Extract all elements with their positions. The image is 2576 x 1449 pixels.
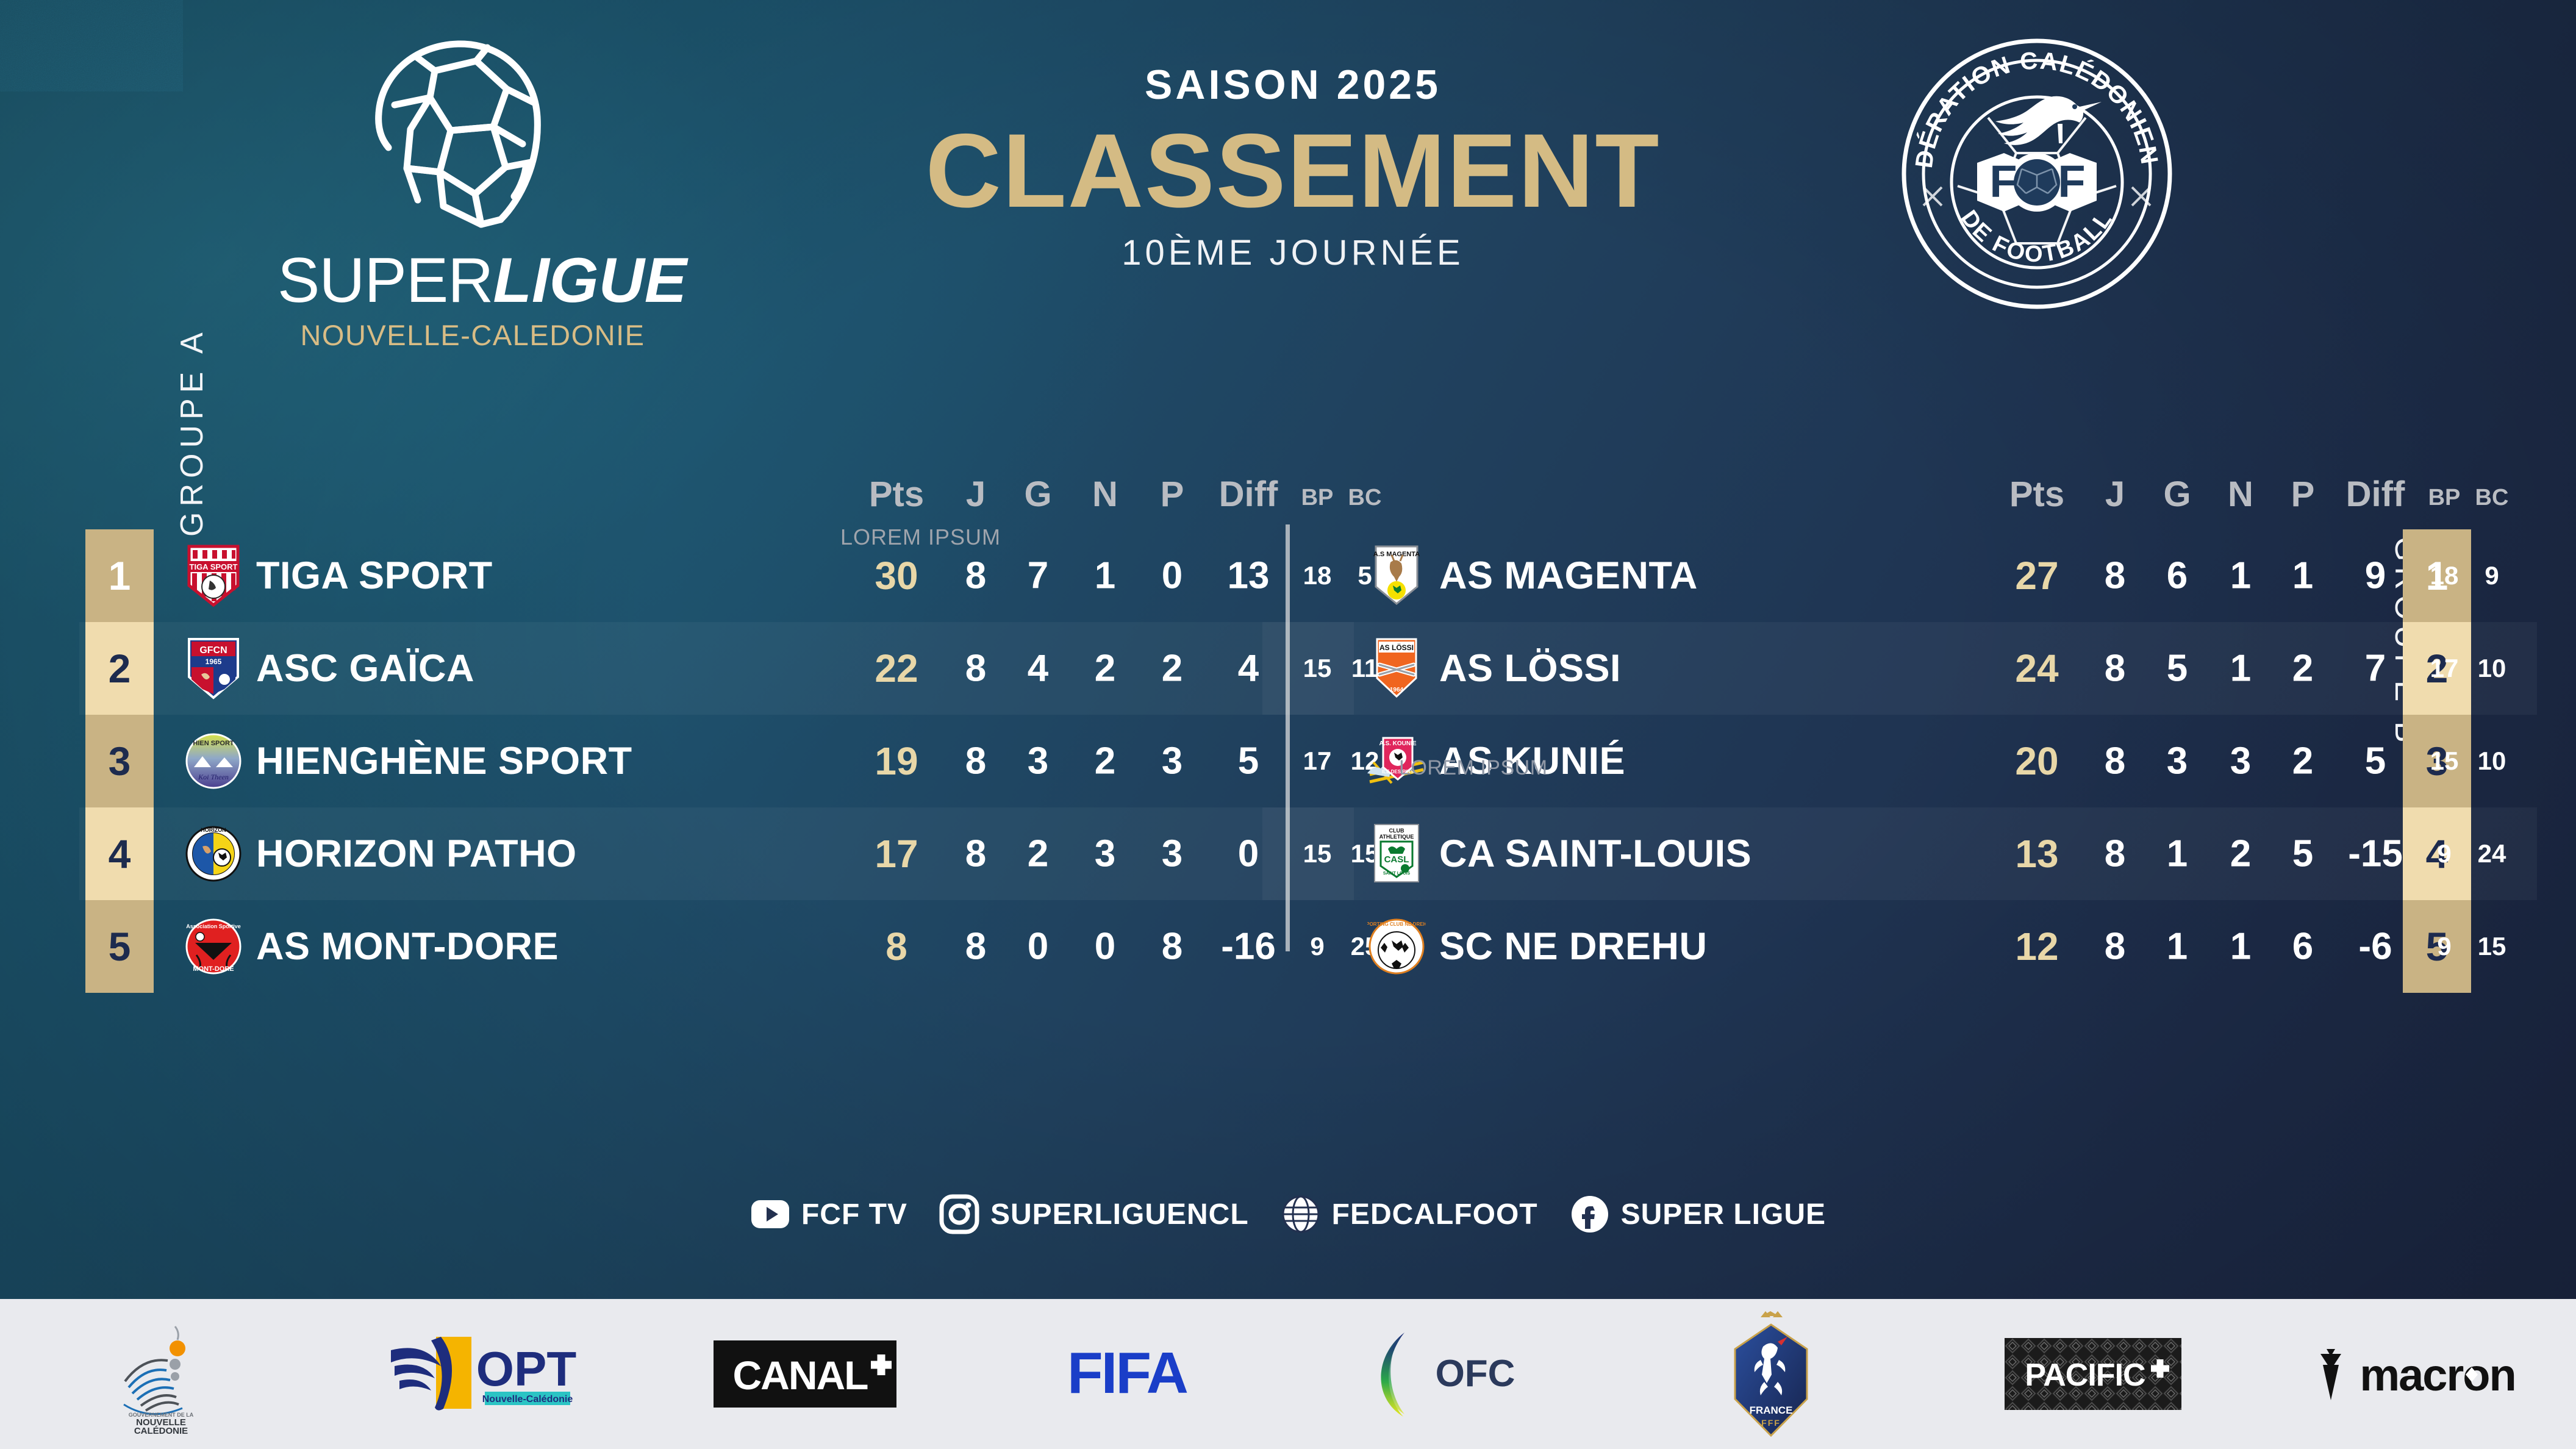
social-links: FCF TV SUPERLIGUENCL FEDCALFOOT bbox=[0, 1194, 2576, 1234]
as-mont-dore-crest-icon: Association Sportive MONT-DORE bbox=[184, 915, 243, 978]
stat-diff: 5 bbox=[1203, 740, 1294, 783]
stat-g: 4 bbox=[1007, 647, 1068, 690]
stat-p: 3 bbox=[1142, 740, 1203, 783]
stat-n: 2 bbox=[2210, 832, 2271, 876]
sponsor-macron: macron bbox=[2254, 1299, 2576, 1449]
social-item-youtube[interactable]: FCF TV bbox=[750, 1194, 907, 1234]
stat-diff: 5 bbox=[2330, 740, 2421, 783]
svg-text:FRANCE: FRANCE bbox=[1750, 1404, 1793, 1416]
social-label: FEDCALFOOT bbox=[1332, 1198, 1538, 1231]
stat-g: 3 bbox=[1007, 740, 1068, 783]
team-name: AS LÖSSI bbox=[1439, 646, 1621, 690]
standings-graphic: SUPERLIGUE NOUVELLE-CALEDONIE SAISON 202… bbox=[0, 0, 2576, 1449]
ca-saint-louis-crest-icon: CLUB ATHLETIQUE CASL SAINT LOUIS bbox=[1367, 822, 1426, 885]
lorem-artifact: LOREM IPSUM bbox=[1399, 756, 1548, 780]
svg-text:PACIFIC: PACIFIC bbox=[2025, 1358, 2145, 1393]
stat-bp: 15 bbox=[2420, 746, 2469, 776]
stat-j: 8 bbox=[945, 647, 1006, 690]
horizon-patho-crest-icon: HORIZON bbox=[184, 822, 243, 885]
stat-p: 2 bbox=[2272, 740, 2333, 783]
gouv-nc-logo-icon: GOUVERNEMENT DE LA NOUVELLE CALÉDONIE bbox=[97, 1313, 225, 1435]
team-name: CA SAINT-LOUIS bbox=[1439, 832, 1751, 876]
stat-pts: 12 bbox=[1994, 924, 2080, 969]
svg-text:FÉDÉRATION CALÉDONIENNE: FÉDÉRATION CALÉDONIENNE bbox=[1897, 34, 2163, 170]
stat-j: 8 bbox=[945, 832, 1006, 876]
stat-g: 7 bbox=[1007, 554, 1068, 598]
stat-n: 0 bbox=[1075, 925, 1136, 968]
stat-j: 8 bbox=[2084, 647, 2145, 690]
svg-text:GFCN: GFCN bbox=[199, 645, 227, 656]
rank-badge: 3 bbox=[85, 715, 154, 807]
table-row[interactable]: 1 A.S MAGENTA AS MAGENTA 27 8 6 1 1 9 18… bbox=[1336, 529, 2464, 622]
stat-pts: 19 bbox=[854, 739, 939, 784]
svg-text:HIEN SPORT: HIEN SPORT bbox=[193, 740, 234, 747]
column-header-n: N bbox=[1075, 474, 1136, 515]
superligue-wordmark: SUPERLIGUE bbox=[277, 249, 668, 312]
stat-j: 8 bbox=[945, 925, 1006, 968]
column-header-bp: BP bbox=[2420, 485, 2469, 511]
social-item-facebook[interactable]: SUPER LIGUE bbox=[1570, 1194, 1826, 1234]
fifa-logo-icon: FIFA bbox=[1042, 1340, 1212, 1408]
social-label: SUPER LIGUE bbox=[1621, 1198, 1826, 1231]
sponsor-bar: GOUVERNEMENT DE LA NOUVELLE CALÉDONIE OP… bbox=[0, 1299, 2576, 1449]
social-label: SUPERLIGUENCL bbox=[990, 1198, 1249, 1231]
sponsor-fff-france: FRANCE FFF bbox=[1610, 1299, 1932, 1449]
column-header-diff: Diff bbox=[1203, 474, 1294, 515]
stat-p: 3 bbox=[1142, 832, 1203, 876]
team-name: TIGA SPORT bbox=[256, 554, 493, 598]
svg-text:TIGA SPORT: TIGA SPORT bbox=[190, 562, 238, 571]
social-item-instagram[interactable]: SUPERLIGUENCL bbox=[939, 1194, 1249, 1234]
cagou-bird-icon bbox=[1995, 96, 2102, 145]
stat-p: 1 bbox=[2272, 554, 2333, 598]
social-label: FCF TV bbox=[801, 1198, 907, 1231]
stat-g: 6 bbox=[2147, 554, 2208, 598]
table-row[interactable]: 4 CLUB ATHLETIQUE CASL SAINT LOUIS CA SA… bbox=[1336, 807, 2464, 900]
sponsor-pacific-plus: PACIFIC bbox=[1932, 1299, 2254, 1449]
logo-word-super: SUPER bbox=[277, 245, 493, 316]
table-row[interactable]: 5 Association Sportive MONT-DORE AS MONT… bbox=[152, 900, 1281, 993]
svg-text:1964: 1964 bbox=[1390, 687, 1404, 693]
stat-bp: 9 bbox=[2420, 839, 2469, 868]
asc-gaica-crest-icon: GFCN 1965 bbox=[184, 637, 243, 700]
stat-g: 3 bbox=[2147, 740, 2208, 783]
stat-p: 8 bbox=[1142, 925, 1203, 968]
stat-pts: 30 bbox=[854, 553, 939, 598]
svg-text:MONT-DORE: MONT-DORE bbox=[193, 965, 234, 973]
stat-n: 1 bbox=[2210, 647, 2271, 690]
stat-bp: 17 bbox=[2420, 654, 2469, 683]
page-title: CLASSEMENT bbox=[842, 116, 1744, 226]
stat-g: 1 bbox=[2147, 925, 2208, 968]
ofc-logo-icon: OFC bbox=[1361, 1325, 1537, 1423]
svg-text:FIFA: FIFA bbox=[1067, 1340, 1187, 1406]
soccer-ball-outline-icon bbox=[357, 37, 552, 244]
stat-n: 3 bbox=[1075, 832, 1136, 876]
pacific-plus-logo-icon: PACIFIC bbox=[2005, 1338, 2181, 1410]
stat-n: 3 bbox=[2210, 740, 2271, 783]
rank-badge: 5 bbox=[85, 900, 154, 993]
table-row[interactable]: 2 GFCN 1965 ASC GAÏCA 22 8 4 2 2 4 bbox=[152, 622, 1281, 715]
stat-pts: 8 bbox=[854, 924, 939, 969]
header: SUPERLIGUE NOUVELLE-CALEDONIE SAISON 202… bbox=[0, 0, 2576, 378]
opt-nc-logo-icon: OPT Nouvelle-Calédonie bbox=[382, 1328, 584, 1420]
globe-icon bbox=[1281, 1194, 1321, 1234]
stat-g: 0 bbox=[1007, 925, 1068, 968]
svg-text:CANAL: CANAL bbox=[733, 1353, 868, 1398]
svg-text:Koi Theen: Koi Theen bbox=[198, 773, 229, 781]
sponsor-ofc: OFC bbox=[1288, 1299, 1610, 1449]
tiga-sport-crest-icon: TIGA SPORT bbox=[184, 544, 243, 607]
stat-bc: 9 bbox=[2467, 561, 2516, 590]
sponsor-fifa: FIFA bbox=[966, 1299, 1288, 1449]
svg-text:Association Sportive: Association Sportive bbox=[186, 923, 241, 929]
logo-word-ligue: LIGUE bbox=[493, 245, 687, 316]
sponsor-gouv-nc: GOUVERNEMENT DE LA NOUVELLE CALÉDONIE bbox=[0, 1299, 322, 1449]
svg-text:F: F bbox=[2058, 156, 2085, 207]
column-header-diff: Diff bbox=[2330, 474, 2421, 515]
svg-text:OFC: OFC bbox=[1436, 1353, 1515, 1395]
group-b-table: Pts J G N P Diff BP BC 1 A.S MAGENTA bbox=[1336, 463, 2464, 993]
group-a-rows: 1 TIGA SPORT TIGA SP bbox=[152, 529, 1281, 993]
stat-bc: 24 bbox=[2467, 839, 2516, 868]
stat-p: 5 bbox=[2272, 832, 2333, 876]
stat-bc: 15 bbox=[2467, 932, 2516, 961]
stat-g: 5 bbox=[2147, 647, 2208, 690]
svg-text:A.S MAGENTA: A.S MAGENTA bbox=[1373, 551, 1420, 558]
stat-diff: -15 bbox=[2330, 832, 2421, 876]
stat-pts: 17 bbox=[854, 831, 939, 876]
stat-j: 8 bbox=[2084, 554, 2145, 598]
sponsor-opt: OPT Nouvelle-Calédonie bbox=[322, 1299, 644, 1449]
stat-diff: 7 bbox=[2330, 647, 2421, 690]
stat-diff: -6 bbox=[2330, 925, 2421, 968]
column-header-pts: Pts bbox=[854, 474, 939, 515]
group-a-table: Pts J G N P Diff BP BC LOREM IPSUM 1 bbox=[152, 463, 1281, 993]
fcf-federation-crest-icon: FÉDÉRATION CALÉDONIENNE DE FOOTBALL bbox=[1897, 34, 2177, 314]
stat-p: 0 bbox=[1142, 554, 1203, 598]
sc-ne-drehu-crest-icon: SPORTING CLUB NE DREHU bbox=[1367, 915, 1426, 978]
stat-n: 1 bbox=[2210, 554, 2271, 598]
as-magenta-crest-icon: A.S MAGENTA bbox=[1367, 544, 1426, 607]
stat-bc: 10 bbox=[2467, 746, 2516, 776]
stat-diff: 9 bbox=[2330, 554, 2421, 598]
team-name: HIENGHÈNE SPORT bbox=[256, 739, 632, 783]
svg-text:SAINT LOUIS: SAINT LOUIS bbox=[1383, 871, 1411, 876]
team-name: AS MAGENTA bbox=[1439, 554, 1698, 598]
rank-badge: 1 bbox=[85, 529, 154, 622]
column-header-p: P bbox=[1142, 474, 1203, 515]
social-item-website[interactable]: FEDCALFOOT bbox=[1281, 1194, 1538, 1234]
stat-j: 8 bbox=[2084, 740, 2145, 783]
table-row[interactable]: 2 AS LÖSSI 1964 AS LÖSSI 24 8 5 1 2 7 17… bbox=[1336, 622, 2464, 715]
instagram-icon bbox=[939, 1194, 979, 1234]
stat-n: 2 bbox=[1075, 647, 1136, 690]
column-header-j: J bbox=[945, 474, 1006, 515]
title-block: SAISON 2025 CLASSEMENT 10ÈME JOURNÉE bbox=[842, 61, 1744, 273]
svg-text:macron: macron bbox=[2360, 1350, 2515, 1400]
stat-bp: 18 bbox=[2420, 561, 2469, 590]
stat-bp: 18 bbox=[1293, 561, 1342, 590]
group-a-header-row: Pts J G N P Diff BP BC LOREM IPSUM bbox=[152, 463, 1281, 529]
fff-france-crest-icon: FRANCE FFF bbox=[1725, 1309, 1817, 1440]
stat-bp: 9 bbox=[2420, 932, 2469, 961]
stat-j: 8 bbox=[2084, 832, 2145, 876]
table-row[interactable]: 4 HORIZON HORIZON PATHO 17 8 2 3 3 0 bbox=[152, 807, 1281, 900]
group-b-header-row: Pts J G N P Diff BP BC bbox=[1336, 463, 2464, 529]
stat-diff: -16 bbox=[1203, 925, 1294, 968]
team-name: ASC GAÏCA bbox=[256, 646, 474, 690]
svg-text:1965: 1965 bbox=[206, 657, 222, 666]
season-label: SAISON 2025 bbox=[842, 61, 1744, 109]
svg-text:OPT: OPT bbox=[476, 1342, 577, 1396]
macron-logo-icon: macron bbox=[2308, 1340, 2522, 1408]
team-name: SC NE DREHU bbox=[1439, 925, 1708, 968]
svg-text:AS LÖSSI: AS LÖSSI bbox=[1379, 643, 1414, 652]
stat-diff: 13 bbox=[1203, 554, 1294, 598]
stat-n: 2 bbox=[1075, 740, 1136, 783]
sponsor-canal-plus: CANAL bbox=[644, 1299, 966, 1449]
stat-g: 1 bbox=[2147, 832, 2208, 876]
stat-pts: 22 bbox=[854, 646, 939, 691]
svg-text:ATHLETIQUE: ATHLETIQUE bbox=[1379, 834, 1414, 840]
svg-text:CALÉDONIE: CALÉDONIE bbox=[134, 1426, 188, 1435]
svg-text:HORIZON: HORIZON bbox=[201, 827, 226, 833]
stat-pts: 20 bbox=[1994, 739, 2080, 784]
stat-bc: 10 bbox=[2467, 654, 2516, 683]
column-header-pts: Pts bbox=[1994, 474, 2080, 515]
facebook-icon bbox=[1570, 1194, 1610, 1234]
svg-text:CASL: CASL bbox=[1384, 854, 1409, 865]
hienghene-sport-crest-icon: HIEN SPORT Koi Theen bbox=[184, 729, 243, 793]
logo-subtitle: NOUVELLE-CALEDONIE bbox=[277, 318, 668, 352]
column-header-p: P bbox=[2272, 474, 2333, 515]
as-lossi-crest-icon: AS LÖSSI 1964 bbox=[1367, 637, 1426, 700]
stat-pts: 13 bbox=[1994, 831, 2080, 876]
canal-plus-logo-icon: CANAL bbox=[714, 1340, 896, 1408]
svg-text:FFF: FFF bbox=[1761, 1418, 1781, 1428]
svg-text:Nouvelle-Calédonie: Nouvelle-Calédonie bbox=[482, 1394, 573, 1404]
stat-n: 1 bbox=[2210, 925, 2271, 968]
team-name: HORIZON PATHO bbox=[256, 832, 577, 876]
stat-pts: 27 bbox=[1994, 553, 2080, 598]
rank-badge: 2 bbox=[85, 622, 154, 715]
superligue-logo: SUPERLIGUE NOUVELLE-CALEDONIE bbox=[277, 37, 668, 354]
table-row[interactable]: 5 SPORTING CLUB NE DREHU SC NE DREHU 12 … bbox=[1336, 900, 2464, 993]
stat-bp: 17 bbox=[1293, 746, 1342, 776]
column-header-n: N bbox=[2210, 474, 2271, 515]
stat-n: 1 bbox=[1075, 554, 1136, 598]
stat-pts: 24 bbox=[1994, 646, 2080, 691]
svg-text:CLUB: CLUB bbox=[1389, 828, 1404, 834]
matchday-label: 10ÈME JOURNÉE bbox=[842, 232, 1744, 273]
column-header-g: G bbox=[2147, 474, 2208, 515]
svg-text:A.S. KOUNIE: A.S. KOUNIE bbox=[1379, 740, 1416, 747]
column-header-j: J bbox=[2084, 474, 2145, 515]
svg-text:F: F bbox=[1989, 156, 2017, 207]
youtube-icon bbox=[750, 1194, 790, 1234]
stat-p: 2 bbox=[2272, 647, 2333, 690]
table-row[interactable]: 1 TIGA SPORT TIGA SP bbox=[152, 529, 1281, 622]
svg-text:DE FOOTBALL: DE FOOTBALL bbox=[1956, 206, 2118, 267]
rank-badge: 4 bbox=[85, 807, 154, 900]
stat-j: 8 bbox=[945, 740, 1006, 783]
table-row[interactable]: 3 HIEN SPORT Koi Theen HIENGHÈNE SPORT 1… bbox=[152, 715, 1281, 807]
svg-text:SPORTING CLUB NE DREHU: SPORTING CLUB NE DREHU bbox=[1367, 921, 1426, 927]
stat-j: 8 bbox=[945, 554, 1006, 598]
column-header-bp: BP bbox=[1293, 485, 1342, 511]
stat-p: 6 bbox=[2272, 925, 2333, 968]
column-header-g: G bbox=[1007, 474, 1068, 515]
stat-j: 8 bbox=[2084, 925, 2145, 968]
stat-g: 2 bbox=[1007, 832, 1068, 876]
team-name: AS MONT-DORE bbox=[256, 925, 559, 968]
stat-p: 2 bbox=[1142, 647, 1203, 690]
stat-bp: 9 bbox=[1293, 932, 1342, 961]
column-header-bc: BC bbox=[2467, 485, 2516, 511]
